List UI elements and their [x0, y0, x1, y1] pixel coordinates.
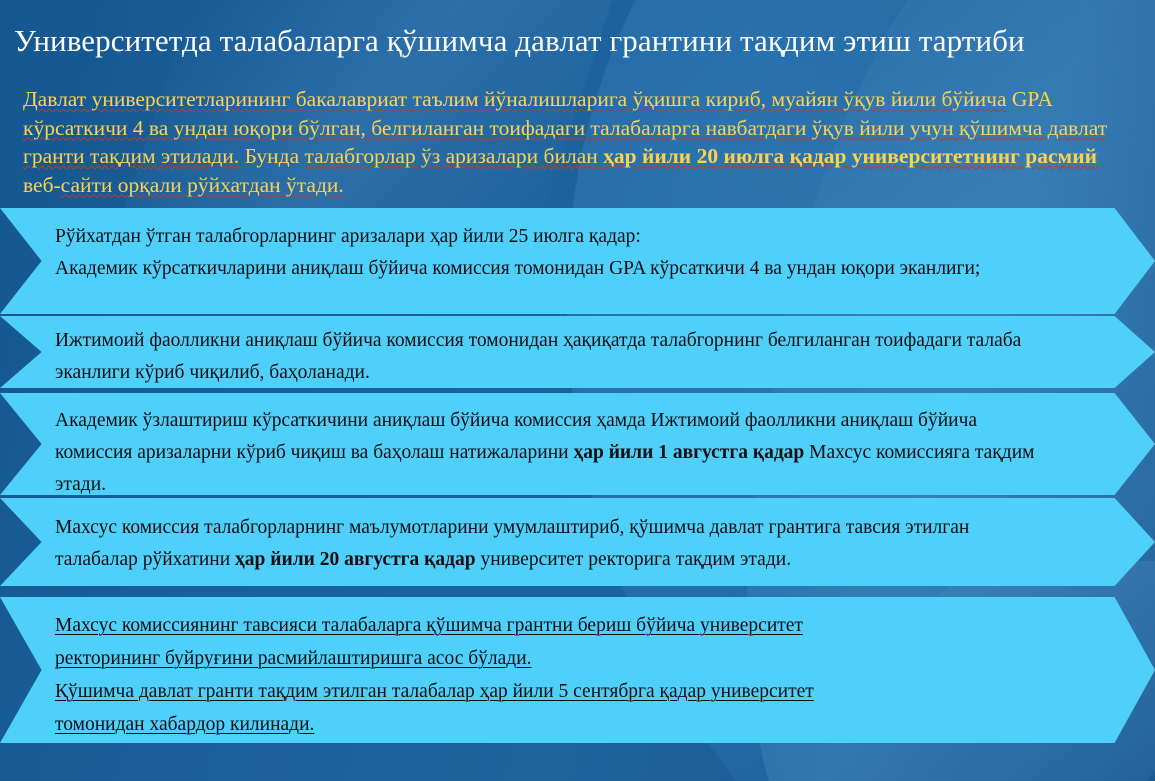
- banner-5-text: Махсус комиссиянинг тавсияси талабаларга…: [55, 597, 1035, 741]
- banner-4-bold-deadline: ҳар йили 20 августга қадар: [235, 549, 476, 570]
- special-commission-recommendation-banner: Махсус комиссия талабгорларнинг маълумот…: [0, 498, 1155, 586]
- registration-deadline-banner: Рўйхатдан ўтган талабгорларнинг аризалар…: [0, 208, 1155, 314]
- banner-2-line-1: Ижтимоий фаолликни аниқлаш бўйича комисс…: [55, 325, 1035, 389]
- banner-2-text: Ижтимоий фаолликни аниқлаш бўйича комисс…: [55, 316, 1035, 389]
- intro-segment-6: ҳар йили 20 июлга қадар университетнинг …: [603, 144, 1097, 168]
- intro-segment-8: сайти орқали рўйхатдан ўтади.: [61, 173, 344, 197]
- intro-segment-2: GPA: [1012, 87, 1052, 111]
- banner-3-text: Академик ўзлаштириш кўрсаткичини аниқлаш…: [55, 393, 1035, 501]
- banner-1-line-1: Рўйхатдан ўтган талабгорларнинг аризалар…: [55, 221, 1035, 253]
- banner-1-line-2: Академик кўрсаткичларини аниқлаш бўйича …: [55, 253, 1035, 285]
- banner-5-line-1: Махсус комиссиянинг тавсияси талабаларга…: [55, 609, 1035, 642]
- rector-order-notification-banner: Махсус комиссиянинг тавсияси талабаларга…: [0, 597, 1155, 743]
- intro-segment-5: талабгорлар ўз аризалари билан: [305, 144, 604, 168]
- banner-5-line-2: ректорининг буйруғини расмийлаштиришга а…: [55, 642, 1035, 675]
- intro-segment-4: Бунда: [239, 144, 304, 168]
- slide-title: Университетда талабаларга қўшимча давлат…: [14, 22, 1114, 60]
- presentation-slide: Университетда талабаларга қўшимча давлат…: [0, 0, 1155, 781]
- banner-1-text: Рўйхатдан ўтган талабгорларнинг аризалар…: [55, 208, 1035, 285]
- intro-segment-0: Давлат университетларининг бакалавриат т…: [23, 87, 1007, 111]
- banner-4-suffix: университет ректорига тақдим этади.: [476, 549, 792, 570]
- banner-4-text: Махсус комиссия талабгорларнинг маълумот…: [55, 498, 1035, 576]
- intro-segment-7: веб-: [23, 173, 61, 197]
- academic-commission-results-banner: Академик ўзлаштириш кўрсаткичини аниқлаш…: [0, 393, 1155, 495]
- banner-5-line-3: Қўшимча давлат гранти тақдим этилган тал…: [55, 675, 1035, 708]
- social-activity-commission-banner: Ижтимоий фаолликни аниқлаш бўйича комисс…: [0, 316, 1155, 388]
- banner-5-line-4: томонидан хабардор килинади.: [55, 708, 1035, 741]
- intro-paragraph: Давлат университетларининг бакалавриат т…: [23, 85, 1133, 199]
- banner-3-bold-deadline: ҳар йили 1 августга қадар: [573, 442, 804, 463]
